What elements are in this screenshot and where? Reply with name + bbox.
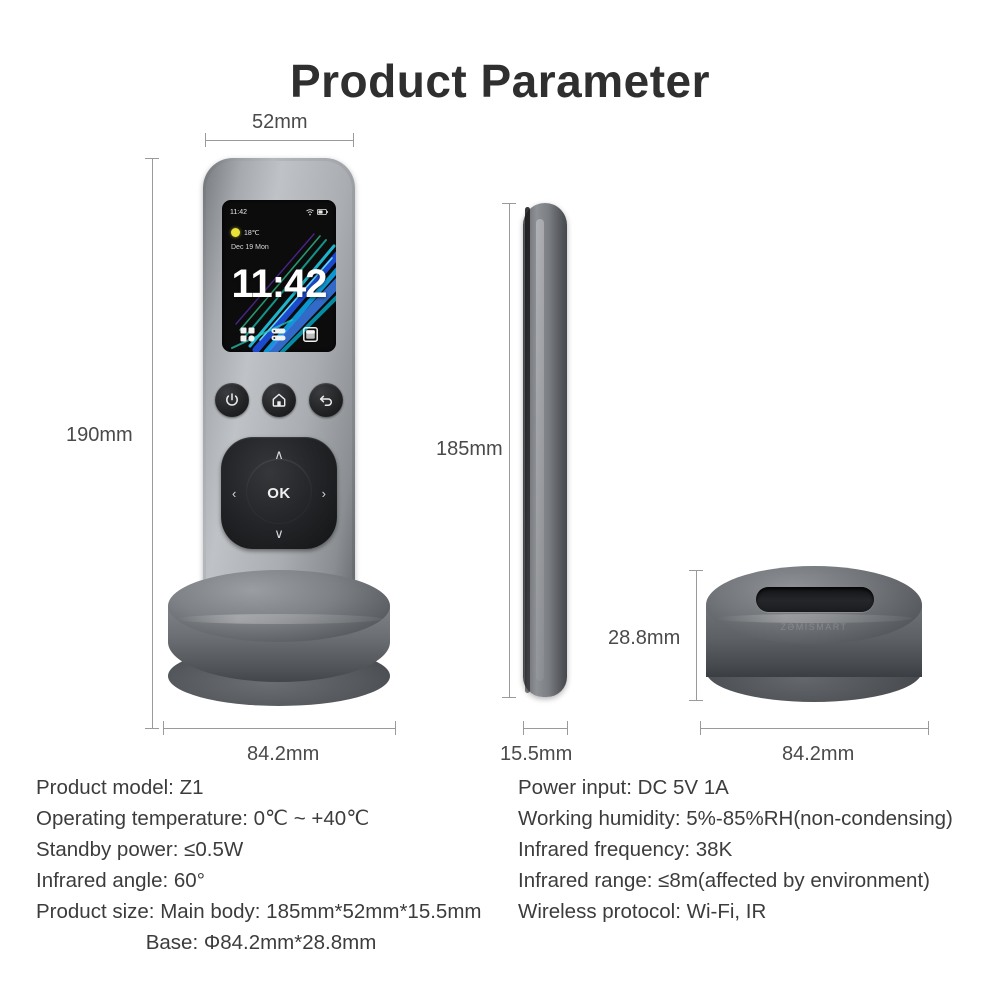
control-button-row [215, 383, 343, 417]
spec-item: Operating temperature: 0℃ ~ +40℃ [36, 803, 516, 834]
status-icons [306, 209, 328, 216]
status-time: 11:42 [230, 209, 247, 216]
dimension-line-side-thickness [523, 728, 567, 729]
base-slot [756, 587, 874, 612]
power-button[interactable] [215, 383, 249, 417]
apps-grid-icon[interactable] [240, 327, 255, 342]
back-button[interactable] [309, 383, 343, 417]
battery-icon [317, 209, 328, 215]
charging-base: ZƏMISMART [706, 566, 922, 706]
home-button[interactable] [262, 383, 296, 417]
dpad-left-button[interactable]: ‹ [232, 437, 236, 549]
spec-item: Product size: Main body: 185mm*52mm*15.5… [36, 896, 516, 927]
screen-clock: 11:42 [222, 262, 336, 307]
spec-item: Infrared angle: 60° [36, 865, 516, 896]
dock-highlight [176, 614, 382, 624]
dimension-label-dock-width: 84.2mm [782, 743, 854, 766]
dimension-line-dock-width [700, 728, 928, 729]
spec-item: Product model: Z1 [36, 772, 516, 803]
power-icon [224, 392, 240, 408]
home-icon [271, 392, 287, 408]
sun-icon [231, 228, 240, 237]
spec-item: Power input: DC 5V 1A [518, 772, 988, 803]
dock-top [168, 570, 390, 642]
screen-weather: 18℃ [231, 228, 260, 237]
panel-icon[interactable] [303, 327, 318, 342]
dpad-down-button[interactable]: ∨ [221, 527, 337, 540]
dimension-tick [700, 721, 701, 735]
dimension-line-front-height [152, 158, 153, 728]
dimension-label-front-height: 190mm [66, 424, 133, 447]
specs-right-column: Power input: DC 5V 1A Working humidity: … [518, 772, 988, 927]
remote-dock-base [168, 570, 390, 700]
screen-date: Dec 19 Mon [231, 244, 269, 251]
device-screen[interactable]: 11:42 18℃ Dec 19 Mon 11:42 [222, 200, 336, 352]
dimension-label-base-width: 84.2mm [247, 743, 319, 766]
dimension-tick [353, 133, 354, 147]
back-arrow-icon [318, 392, 334, 408]
dimension-tick [502, 697, 516, 698]
dpad-control[interactable]: OK ∧ ∨ ‹ › [221, 437, 337, 549]
spec-item: Wireless protocol: Wi-Fi, IR [518, 896, 988, 927]
dimension-tick [145, 728, 159, 729]
wifi-icon [306, 209, 314, 216]
spec-item: Standby power: ≤0.5W [36, 834, 516, 865]
dimension-tick [145, 158, 159, 159]
dimension-tick [395, 721, 396, 735]
product-parameter-sheet: Product Parameter 52mm 190mm [0, 0, 1000, 1000]
screen-dock [222, 327, 336, 342]
page-title: Product Parameter [0, 54, 1000, 108]
dimension-label-dock-height: 28.8mm [608, 627, 680, 650]
dimension-tick [163, 721, 164, 735]
specs-left-column: Product model: Z1 Operating temperature:… [36, 772, 516, 958]
spec-item: Working humidity: 5%-85%RH(non-condensin… [518, 803, 988, 834]
dimension-tick [928, 721, 929, 735]
side-screen-edge [525, 207, 530, 693]
dimension-line-dock-height [696, 570, 697, 700]
base-brand-engraving: ZƏMISMART [706, 622, 922, 632]
dimension-tick [205, 133, 206, 147]
dimension-tick [523, 721, 524, 735]
temperature-value: 18℃ [244, 229, 260, 237]
dimension-tick [502, 203, 516, 204]
remote-side-view [523, 203, 567, 697]
dpad-up-button[interactable]: ∧ [221, 448, 337, 461]
dimension-label-side-height: 185mm [436, 438, 503, 461]
dimension-tick [567, 721, 568, 735]
dimension-line-base-width [163, 728, 395, 729]
spec-item: Infrared range: ≤8m(affected by environm… [518, 865, 988, 896]
dimension-tick [689, 570, 703, 571]
spec-item: Infrared frequency: 38K [518, 834, 988, 865]
side-highlight [536, 219, 544, 681]
spec-item-base-size: Base: Φ84.2mm*28.8mm [36, 927, 516, 958]
dimension-label-side-thickness: 15.5mm [500, 743, 572, 766]
dpad-right-button[interactable]: › [322, 437, 326, 549]
base-highlight [716, 614, 912, 623]
list-icon[interactable] [271, 327, 286, 342]
dimension-tick [689, 700, 703, 701]
screen-status-bar: 11:42 [222, 205, 336, 219]
dimension-label-front-width: 52mm [252, 111, 308, 134]
dimension-line-side-height [509, 203, 510, 697]
dimension-line-front-width [205, 140, 353, 141]
